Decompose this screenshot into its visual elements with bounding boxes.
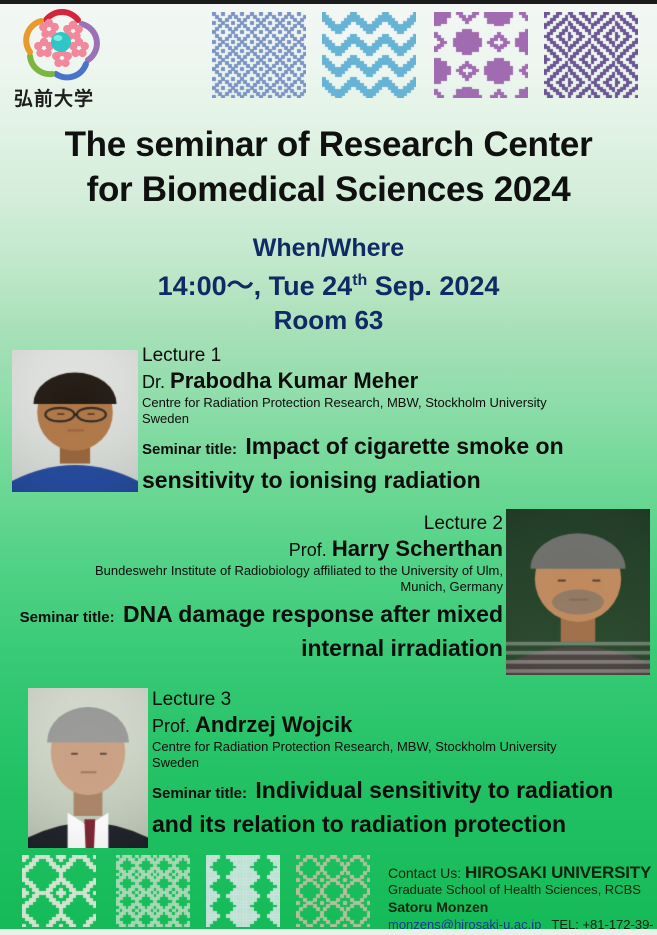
contact-prefix: Contact Us: [388,865,465,881]
contact-organization: HIROSAKI UNIVERSITY [465,863,651,882]
lecture-block-3: Lecture 3 Prof. Andrzej Wojcik Centre fo… [152,688,652,843]
seminar-title-row: Seminar title: DNA damage response after… [8,599,503,667]
logo-sphere-icon [51,32,71,52]
pattern-kogin-chevron [322,12,416,98]
when-where-block: When/Where 14:00〜, Tue 24th Sep. 2024 Ro… [0,232,657,337]
pattern-sashiko-lattice-dots [116,855,190,927]
speaker-honorific: Dr. [142,372,165,392]
lecture-speaker: Prof. Harry Scherthan [8,536,503,563]
speaker-name: Prabodha Kumar Meher [170,368,418,393]
seminar-title-row: Seminar title: Individual sensitivity to… [152,775,652,843]
seminar-datetime: 14:00〜, Tue 24th Sep. 2024 [0,264,657,303]
seminar-title-label: Seminar title: [152,785,247,802]
seminar-poster: 弘前大学 The seminar of Research Center for … [0,0,657,935]
speaker-affiliation-line1: Centre for Radiation Protection Research… [142,395,652,411]
pattern-sashiko-triangle-band [206,855,280,927]
speaker-name: Andrzej Wojcik [195,712,352,737]
speaker-affiliation-line2: Munich, Germany [8,579,503,595]
lecture-number: Lecture 1 [142,344,652,368]
speaker-honorific: Prof. [152,716,190,736]
speaker-affiliation-line2: Sweden [142,411,652,427]
datetime-suffix: Sep. 2024 [367,271,499,301]
seminar-title-row: Seminar title: Impact of cigarette smoke… [142,431,652,499]
contact-block: Contact Us: HIROSAKI UNIVERSITY Graduate… [388,864,654,935]
speaker-affiliation-line1: Centre for Radiation Protection Research… [152,739,652,755]
pattern-kogin-basketweave [544,12,638,98]
title-line-1: The seminar of Research Center [0,122,657,167]
speaker-name: Harry Scherthan [332,536,503,561]
pattern-sashiko-diamond-grid [296,855,370,927]
lecture-block-2: Lecture 2 Prof. Harry Scherthan Bundeswe… [8,512,503,667]
hirosaki-university-logo-icon [16,8,108,82]
lecture-block-1: Lecture 1 Dr. Prabodha Kumar Meher Centr… [142,344,652,499]
date-ordinal-suffix: th [352,272,367,289]
pattern-kogin-diamond-lattice [212,12,306,98]
seminar-title-label: Seminar title: [20,609,115,626]
seminar-title-text: DNA damage response after mixed internal… [123,601,503,661]
portrait-andrzej-wojcik [28,688,148,848]
speaker-honorific: Prof. [289,540,327,560]
portrait-prabodha-kumar-meher [12,350,138,492]
top-border-bar [0,0,657,4]
title-line-2: for Biomedical Sciences 2024 [0,167,657,212]
pattern-kogin-flower-star [434,12,528,98]
bottom-edge-bar [0,929,657,935]
contact-org-row: Contact Us: HIROSAKI UNIVERSITY [388,864,654,882]
when-where-heading: When/Where [0,232,657,264]
university-logo: 弘前大学 [10,8,118,108]
speaker-affiliation-line2: Sweden [152,755,652,771]
lecture-number: Lecture 3 [152,688,652,712]
seminar-room: Room 63 [0,303,657,337]
seminar-title-label: Seminar title: [142,441,237,458]
lecture-number: Lecture 2 [8,512,503,536]
university-name-ja: 弘前大学 [14,84,94,111]
portrait-harry-scherthan [506,509,650,675]
lecture-speaker: Dr. Prabodha Kumar Meher [142,368,652,395]
speaker-affiliation-line1: Bundeswehr Institute of Radiobiology aff… [8,563,503,579]
lecture-speaker: Prof. Andrzej Wojcik [152,712,652,739]
datetime-prefix: 14:00〜, Tue 24 [158,271,353,301]
page-title: The seminar of Research Center for Biome… [0,122,657,212]
contact-department: Graduate School of Health Sciences, RCBS [388,882,654,898]
contact-person: Satoru Monzen [388,898,654,916]
pattern-sashiko-diamond-chain [22,855,96,927]
